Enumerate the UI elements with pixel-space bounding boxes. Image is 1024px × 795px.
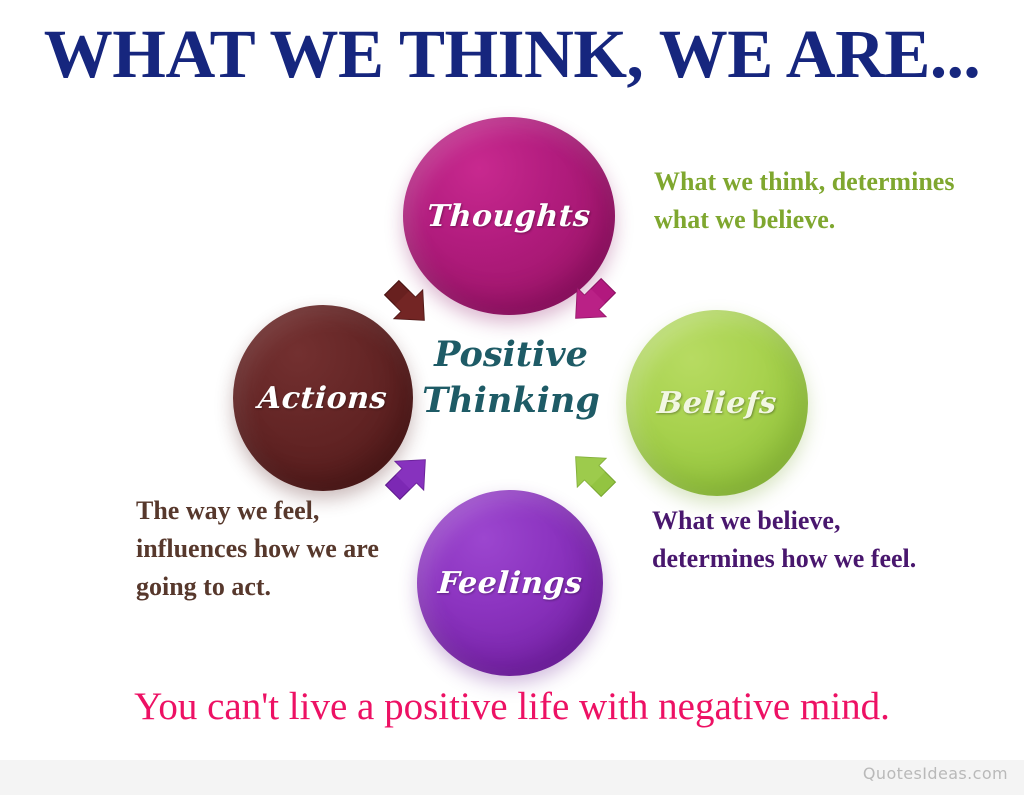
node-beliefs-label: Beliefs bbox=[656, 386, 778, 421]
node-beliefs: Beliefs bbox=[626, 310, 808, 496]
bottom-tagline: You can't live a positive life with nega… bbox=[0, 683, 1024, 731]
poster-canvas: WHAT WE THINK, WE ARE... Thoughts Belief… bbox=[0, 0, 1024, 795]
arrow-actions-to-thoughts-icon bbox=[378, 274, 434, 330]
node-actions-label: Actions bbox=[257, 381, 388, 416]
caption-believe-determines-feel: What we believe, determines how we feel. bbox=[652, 502, 952, 578]
center-label-line2: Thinking bbox=[405, 378, 617, 424]
node-feelings-label: Feelings bbox=[437, 566, 584, 601]
node-feelings: Feelings bbox=[417, 490, 603, 676]
arrow-beliefs-to-feelings-icon bbox=[566, 447, 622, 503]
node-thoughts-label: Thoughts bbox=[426, 199, 592, 234]
caption-feel-influences-act: The way we feel, influences how we are g… bbox=[136, 492, 416, 606]
diagram-center-label: Positive Thinking bbox=[405, 332, 617, 424]
positive-thinking-cycle-diagram: Thoughts Beliefs Feelings Actions Positi… bbox=[0, 0, 1024, 795]
center-label-line1: Positive bbox=[434, 334, 588, 375]
caption-think-determines-believe: What we think, determines what we believ… bbox=[654, 163, 974, 239]
watermark-quotesideas: QuotesIdeas.com bbox=[863, 764, 1008, 783]
arrow-thoughts-to-beliefs-icon bbox=[566, 272, 622, 328]
